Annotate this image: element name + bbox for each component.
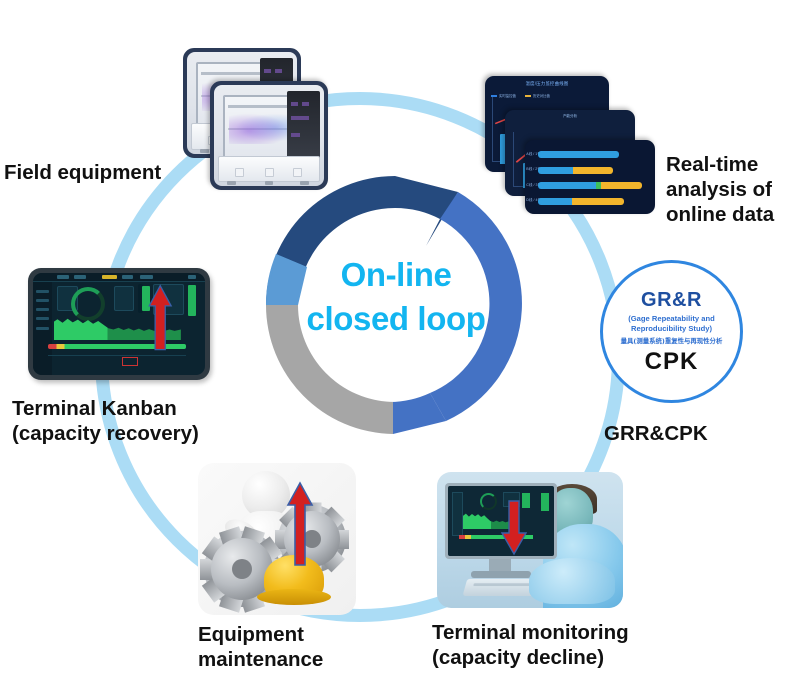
center-label-line1: On-line xyxy=(283,253,509,297)
grr-title: GR&R xyxy=(641,289,702,311)
dashboard-panel-a-title: 温度/压力监控曲线图 xyxy=(485,81,609,87)
terminal-monitoring-image xyxy=(437,472,623,608)
kanban-topbar xyxy=(33,273,205,282)
label-equipment-maintenance: Equipment maintenance xyxy=(198,622,388,672)
person-arm xyxy=(529,558,615,604)
field-equipment-image xyxy=(183,48,328,190)
kanban-info-panel xyxy=(48,355,186,369)
label-real-time-analysis: Real-time analysis of online data xyxy=(666,152,800,227)
online-data-dashboards: 温度/压力监控曲线图 实时监控值 历史对比值 产能分析 xyxy=(477,76,655,214)
label-terminal-monitoring: Terminal monitoring (capacity decline) xyxy=(432,620,672,670)
machine-photo-front xyxy=(210,81,328,190)
label-field-equipment: Field equipment xyxy=(4,160,194,185)
label-terminal-kanban: Terminal Kanban (capacity recovery) xyxy=(12,396,242,446)
label-grr-cpk: GRR&CPK xyxy=(604,421,744,446)
dashboard-hbar-panel: A线 / 1号 B线 / 2号 C线 / 3号 D线 / 4号 xyxy=(525,140,655,214)
grr-cpk-circle: GR&R (Gage Repeatability and Reproducibi… xyxy=(600,260,743,403)
cpk-title: CPK xyxy=(645,349,699,375)
up-arrow-red xyxy=(286,481,314,567)
kanban-gauge xyxy=(71,287,105,321)
center-label: On-line closed loop xyxy=(283,253,509,341)
hard-hat-brim xyxy=(257,589,331,605)
center-label-line2: closed loop xyxy=(283,297,509,341)
monitor-screen xyxy=(445,483,557,559)
grr-subtitle-line1: (Gage Repeatability and xyxy=(628,314,715,324)
grr-chinese-text: 量具(测量系统)重复性与再现性分析 xyxy=(621,337,723,346)
kanban-alert-box xyxy=(122,357,137,366)
up-arrow-red xyxy=(143,284,177,351)
down-arrow-red xyxy=(501,499,527,557)
gear-left-body xyxy=(211,538,273,600)
diagram-canvas: On-line closed loop xyxy=(0,0,800,684)
grr-subtitle-line2: Reproducibility Study) xyxy=(631,324,712,334)
equipment-maintenance-image xyxy=(198,463,356,615)
monitor-foot xyxy=(471,571,531,578)
terminal-kanban-image xyxy=(28,268,210,380)
dashboard-panel-b-title: 产能分析 xyxy=(505,114,635,119)
